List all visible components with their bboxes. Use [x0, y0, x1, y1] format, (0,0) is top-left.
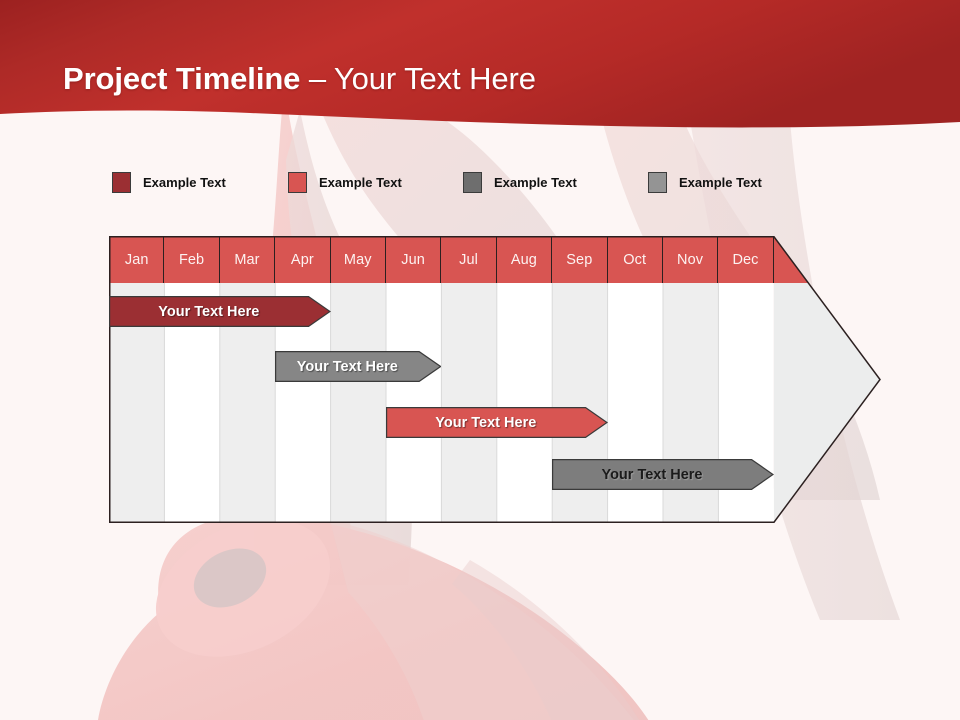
- grid-column-jul: [441, 283, 496, 523]
- legend-color-swatch: [288, 172, 307, 193]
- month-header-jun[interactable]: Jun: [386, 236, 441, 283]
- month-header-may[interactable]: May: [331, 236, 386, 283]
- month-header-nov[interactable]: Nov: [663, 236, 718, 283]
- task-bar-label: Your Text Here: [158, 304, 281, 320]
- month-header-oct[interactable]: Oct: [608, 236, 663, 283]
- legend-color-swatch: [463, 172, 482, 193]
- month-header-jul[interactable]: Jul: [441, 236, 496, 283]
- month-header-mar[interactable]: Mar: [220, 236, 275, 283]
- legend-item-label: Example Text: [679, 175, 762, 190]
- legend-item[interactable]: Example Text: [463, 168, 577, 196]
- grid-column-aug: [497, 283, 552, 523]
- task-bar[interactable]: Your Text Here: [275, 351, 441, 382]
- legend: Example TextExample TextExample TextExam…: [0, 168, 960, 196]
- legend-color-swatch: [648, 172, 667, 193]
- gantt-chart: JanFebMarAprMayJunJulAugSepOctNovDec You…: [109, 236, 881, 523]
- legend-item-label: Example Text: [494, 175, 577, 190]
- legend-item[interactable]: Example Text: [112, 168, 226, 196]
- month-header-sep[interactable]: Sep: [552, 236, 607, 283]
- task-bar-label: Your Text Here: [601, 467, 724, 483]
- grid-column-jun: [386, 283, 441, 523]
- month-header-aug[interactable]: Aug: [497, 236, 552, 283]
- grid-column-may: [331, 283, 386, 523]
- legend-item-label: Example Text: [143, 175, 226, 190]
- task-bar[interactable]: Your Text Here: [109, 296, 331, 327]
- month-header-feb[interactable]: Feb: [164, 236, 219, 283]
- task-bar-label: Your Text Here: [435, 415, 558, 431]
- task-bar[interactable]: Your Text Here: [552, 459, 774, 490]
- legend-item[interactable]: Example Text: [288, 168, 402, 196]
- legend-item-label: Example Text: [319, 175, 402, 190]
- month-header-apr[interactable]: Apr: [275, 236, 330, 283]
- page-title: Project Timeline – Your Text Here: [63, 59, 536, 99]
- page-title-bold: Project Timeline: [63, 61, 300, 96]
- task-bar[interactable]: Your Text Here: [386, 407, 608, 438]
- month-header-dec[interactable]: Dec: [718, 236, 773, 283]
- month-header-row: JanFebMarAprMayJunJulAugSepOctNovDec: [109, 236, 774, 283]
- legend-item[interactable]: Example Text: [648, 168, 762, 196]
- legend-color-swatch: [112, 172, 131, 193]
- month-header-jan[interactable]: Jan: [109, 236, 164, 283]
- slide-canvas: Project Timeline – Your Text Here Exampl…: [0, 0, 960, 720]
- page-title-regular: – Your Text Here: [300, 61, 536, 96]
- task-bar-label: Your Text Here: [297, 359, 420, 375]
